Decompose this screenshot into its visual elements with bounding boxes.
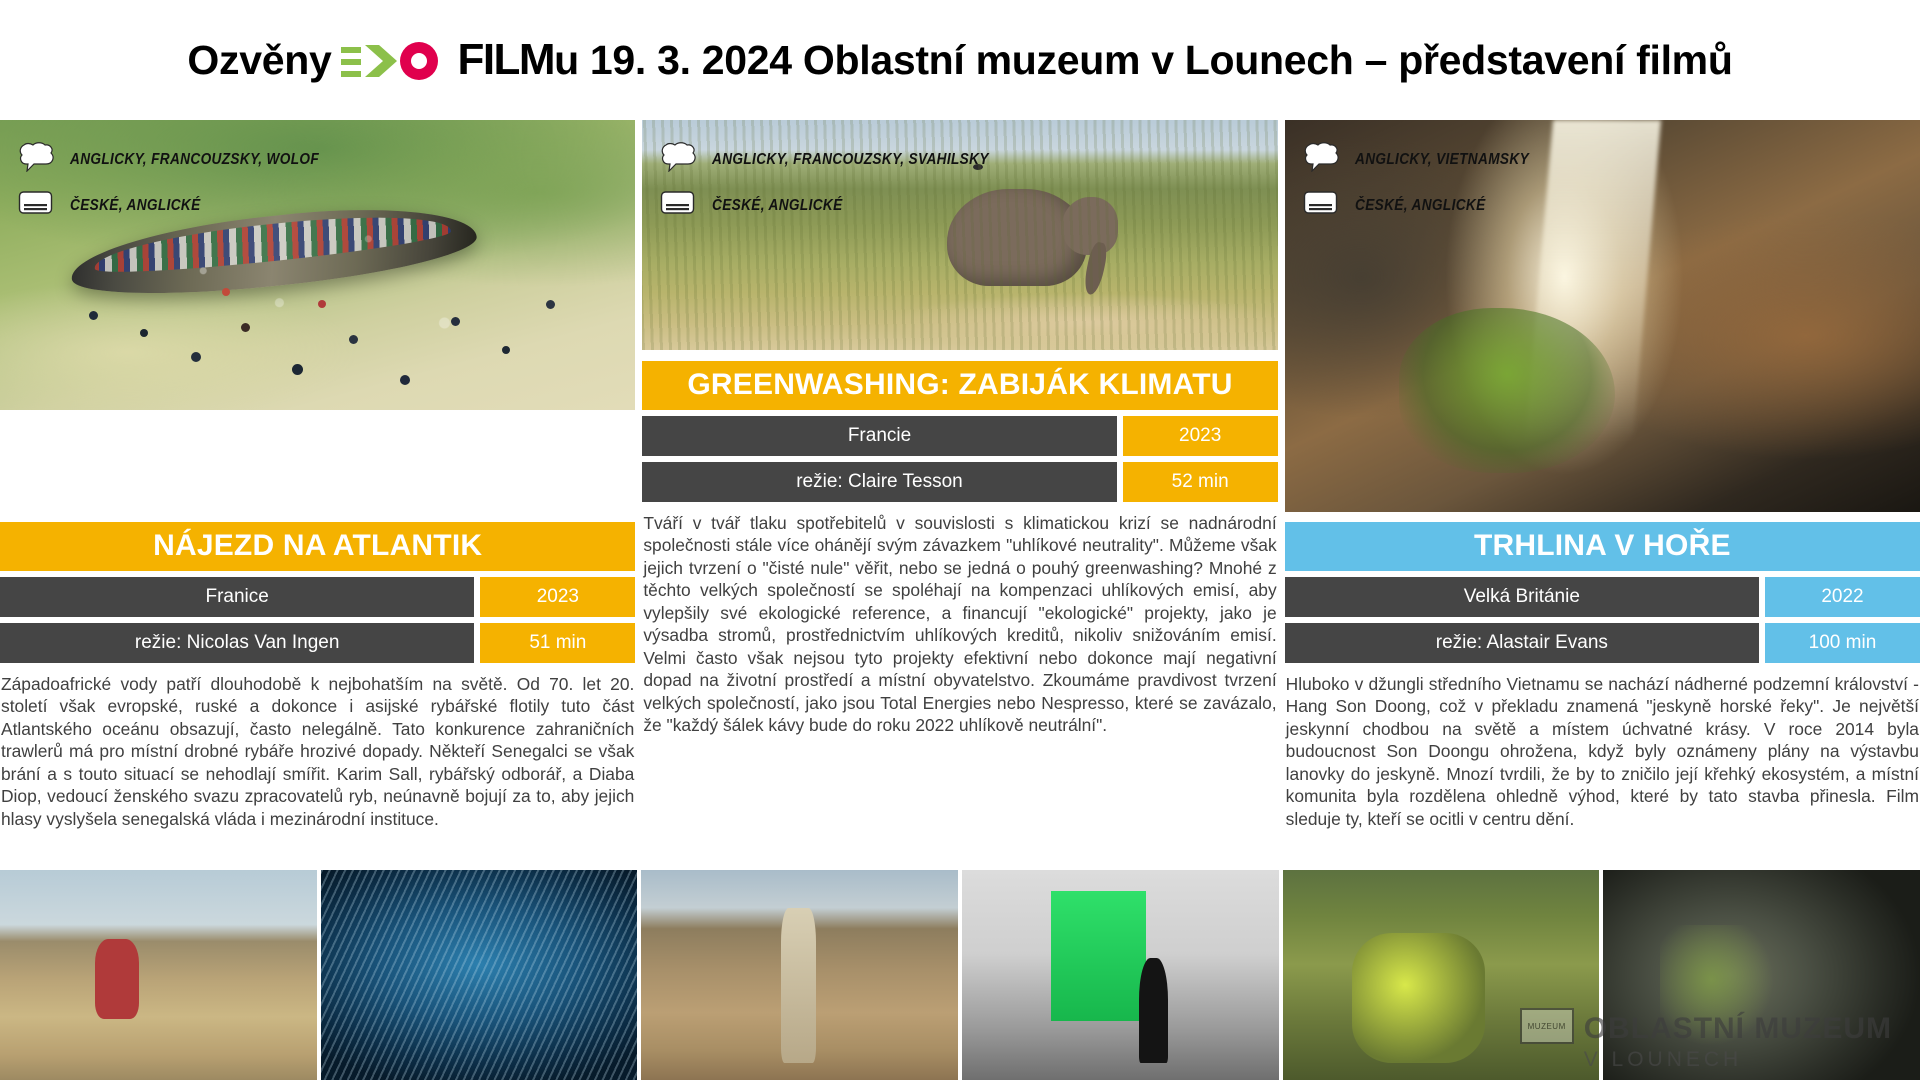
subtitles-icon — [660, 190, 698, 221]
film-2-info: Francie 2023 režie: Claire Tesson 52 min — [642, 416, 1277, 502]
film-3-audio-row: ANGLICKY, VIETNAMSKY — [1303, 142, 1553, 177]
film-2-row-country: Francie 2023 — [642, 416, 1277, 456]
speech-bubble-icon — [1303, 142, 1341, 177]
film-2-subtitle-row: ČESKÉ, ANGLICKÉ — [660, 190, 1027, 221]
film-card-1: ANGLICKY, FRANCOUZSKY, WOLOF ČESKÉ, ANGL… — [0, 120, 635, 835]
film-2-year: 2023 — [1123, 416, 1278, 456]
film-2-photo: ANGLICKY, FRANCOUZSKY, SVAHILSKY ČESKÉ, … — [642, 120, 1277, 350]
film-1-country: Franice — [0, 577, 474, 617]
film-1-director: režie: Nicolas Van Ingen — [0, 623, 474, 663]
museum-logo: MUZEUM OBLASTNÍ MUZEUM V LOUNECH — [1520, 1008, 1892, 1072]
film-3-info: Velká Británie 2022 režie: Alastair Evan… — [1285, 577, 1920, 663]
museum-badge-icon: MUZEUM — [1520, 1008, 1574, 1044]
film-2-languages: ANGLICKY, FRANCOUZSKY, SVAHILSKY ČESKÉ, … — [660, 142, 1027, 234]
film-3-row-country: Velká Británie 2022 — [1285, 577, 1920, 617]
subtitles-icon — [1303, 190, 1341, 221]
header-prefix: Ozvěny — [187, 37, 331, 84]
film-3-title: TRHLINA V HOŘE — [1285, 522, 1920, 571]
film-2-title: GREENWASHING: ZABIJÁK KLIMATU — [642, 361, 1277, 410]
film-2-row-director: režie: Claire Tesson 52 min — [642, 462, 1277, 502]
poster-page: Ozvěny FILM u 19. 3. 2024 Oblastní muzeu… — [0, 0, 1920, 1080]
film-1-length: 51 min — [480, 623, 635, 663]
eko-logo-svg — [341, 39, 457, 85]
film-1-description: Západoafrické vody patří dlouhodobě k ne… — [0, 673, 635, 830]
film-3-country: Velká Británie — [1285, 577, 1759, 617]
film-2-description: Tváří v tvář tlaku spotřebitelů v souvis… — [642, 512, 1277, 737]
film-1-row-country: Franice 2023 — [0, 577, 635, 617]
film-2-audio-row: ANGLICKY, FRANCOUZSKY, SVAHILSKY — [660, 142, 1027, 177]
film-3-director: režie: Alastair Evans — [1285, 623, 1759, 663]
speech-bubble-icon — [18, 142, 56, 177]
film-1-subtitle-langs: ČESKÉ, ANGLICKÉ — [70, 197, 201, 215]
strip-photo-fish-school — [321, 870, 638, 1080]
film-3-row-director: režie: Alastair Evans 100 min — [1285, 623, 1920, 663]
strip-photo-beach — [0, 870, 317, 1080]
film-1-subtitle-row: ČESKÉ, ANGLICKÉ — [18, 190, 353, 221]
film-1-photo: ANGLICKY, FRANCOUZSKY, WOLOF ČESKÉ, ANGL… — [0, 120, 635, 410]
film-1-row-director: režie: Nicolas Van Ingen 51 min — [0, 623, 635, 663]
film-card-3: ANGLICKY, VIETNAMSKY ČESKÉ, ANGLICKÉ — [1285, 120, 1920, 835]
film-1-languages: ANGLICKY, FRANCOUZSKY, WOLOF ČESKÉ, ANGL… — [18, 142, 353, 234]
film-3-subtitle-row: ČESKÉ, ANGLICKÉ — [1303, 190, 1553, 221]
bottom-photo-strip: MUZEUM OBLASTNÍ MUZEUM V LOUNECH — [0, 870, 1920, 1080]
page-header: Ozvěny FILM u 19. 3. 2024 Oblastní muzeu… — [0, 0, 1920, 120]
film-3-photo: ANGLICKY, VIETNAMSKY ČESKÉ, ANGLICKÉ — [1285, 120, 1920, 512]
film-columns: ANGLICKY, FRANCOUZSKY, WOLOF ČESKÉ, ANGL… — [0, 120, 1920, 835]
header-suffix: u 19. 3. 2024 Oblastní muzeum v Lounech … — [554, 37, 1733, 84]
film-2-director: režie: Claire Tesson — [642, 462, 1116, 502]
museum-sub: V LOUNECH — [1584, 1048, 1892, 1072]
film-1-title: NÁJEZD NA ATLANTIK — [0, 522, 635, 571]
museum-logo-top: MUZEUM OBLASTNÍ MUZEUM — [1520, 1008, 1892, 1044]
eko-logo-icon — [341, 39, 457, 85]
strip-photo-desert-person — [641, 870, 958, 1080]
film-3-languages: ANGLICKY, VIETNAMSKY ČESKÉ, ANGLICKÉ — [1303, 142, 1553, 234]
film-3-audio-langs: ANGLICKY, VIETNAMSKY — [1355, 151, 1529, 169]
film-1-audio-langs: ANGLICKY, FRANCOUZSKY, WOLOF — [70, 151, 319, 169]
film-1-audio-row: ANGLICKY, FRANCOUZSKY, WOLOF — [18, 142, 353, 177]
header-title-line: Ozvěny FILM u 19. 3. 2024 Oblastní muzeu… — [187, 35, 1732, 85]
film-3-subtitle-langs: ČESKÉ, ANGLICKÉ — [1355, 197, 1486, 215]
film-2-length: 52 min — [1123, 462, 1278, 502]
museum-name: OBLASTNÍ MUZEUM — [1584, 1014, 1892, 1044]
film-2-audio-langs: ANGLICKY, FRANCOUZSKY, SVAHILSKY — [712, 151, 989, 169]
film-2-subtitle-langs: ČESKÉ, ANGLICKÉ — [712, 197, 843, 215]
strip-photo-green-building — [962, 870, 1279, 1080]
film-3-description: Hluboko v džungli středního Vietnamu se … — [1285, 673, 1920, 830]
film-3-year: 2022 — [1765, 577, 1920, 617]
film-2-country: Francie — [642, 416, 1116, 456]
film-1-year: 2023 — [480, 577, 635, 617]
subtitles-icon — [18, 190, 56, 221]
speech-bubble-icon — [660, 142, 698, 177]
header-logo-word: FILM — [457, 35, 554, 85]
film-1-info: Franice 2023 režie: Nicolas Van Ingen 51… — [0, 577, 635, 663]
film-card-2: ANGLICKY, FRANCOUZSKY, SVAHILSKY ČESKÉ, … — [642, 120, 1277, 835]
film-3-length: 100 min — [1765, 623, 1920, 663]
